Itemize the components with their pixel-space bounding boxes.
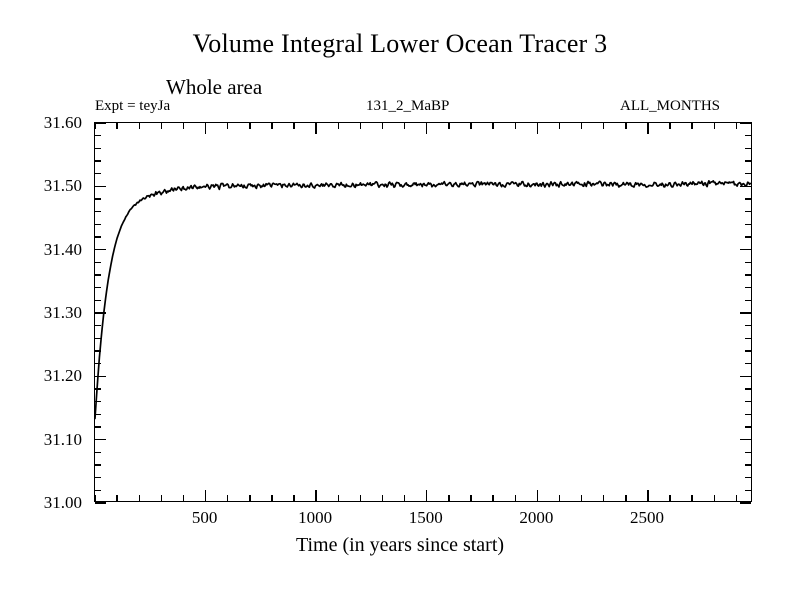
header-months: ALL_MONTHS	[620, 97, 720, 115]
y-axis-tick	[95, 249, 106, 250]
y-axis-tick	[95, 160, 101, 161]
y-axis-tick	[95, 224, 101, 225]
x-axis-tick	[139, 123, 140, 129]
y-axis-tick	[95, 312, 106, 313]
x-axis-tick	[315, 490, 316, 501]
x-axis-tick	[293, 123, 294, 129]
y-axis-tick	[745, 338, 751, 339]
y-axis-tick	[740, 186, 751, 187]
y-axis-tick	[745, 452, 751, 453]
x-axis-tick	[249, 123, 250, 129]
y-axis-tick	[95, 338, 101, 339]
y-axis-tick	[745, 135, 751, 136]
y-axis-tick-label: 31.20	[12, 367, 82, 384]
x-axis-tick	[139, 495, 140, 501]
y-axis-tick-label: 31.40	[12, 241, 82, 258]
x-axis-tick-label: 1500	[409, 508, 443, 527]
y-axis-tick-label: 31.00	[12, 494, 82, 511]
y-axis-tick	[95, 198, 101, 199]
y-axis-tick	[740, 122, 751, 123]
y-axis-tick	[745, 300, 751, 301]
y-axis-tick	[95, 363, 101, 364]
x-axis-tick-label: 1000	[298, 508, 332, 527]
x-axis-tick	[338, 495, 339, 501]
x-axis-tick	[669, 495, 670, 501]
x-axis-tick	[116, 495, 117, 501]
x-axis-tick	[448, 123, 449, 129]
chart-subtitle: Whole area	[166, 75, 262, 99]
y-axis-tick	[95, 464, 101, 465]
header-experiment: Expt = teyJa	[95, 97, 170, 115]
x-axis-tick	[94, 123, 95, 129]
y-axis-tick	[95, 262, 101, 263]
y-axis-tick	[95, 173, 101, 174]
y-axis-tick	[745, 148, 751, 149]
x-axis-tick	[603, 495, 604, 501]
page-title: Volume Integral Lower Ocean Tracer 3	[0, 29, 800, 59]
y-axis-tick	[745, 236, 751, 237]
y-axis-tick	[95, 122, 106, 123]
y-axis-tick	[745, 160, 751, 161]
y-axis-tick	[95, 414, 101, 415]
x-axis-tick	[404, 495, 405, 501]
y-axis-tick	[740, 502, 751, 503]
y-axis-tick	[745, 388, 751, 389]
x-axis-tick	[183, 495, 184, 501]
y-axis-tick	[745, 363, 751, 364]
y-axis-tick	[740, 249, 751, 250]
y-axis-tick	[745, 173, 751, 174]
y-axis-tick	[745, 426, 751, 427]
x-axis-tick	[714, 495, 715, 501]
y-axis-tick	[740, 376, 751, 377]
x-axis-tick	[647, 123, 648, 134]
x-axis-tick-label: 2500	[630, 508, 664, 527]
x-axis-tick	[647, 490, 648, 501]
x-axis-tick	[271, 123, 272, 129]
x-axis-tick	[669, 123, 670, 129]
x-axis-tick	[227, 123, 228, 129]
y-axis-tick	[745, 414, 751, 415]
x-axis-tick	[691, 495, 692, 501]
x-axis-tick	[492, 123, 493, 129]
x-axis-tick	[448, 495, 449, 501]
x-axis-tick	[315, 123, 316, 134]
x-axis-tick	[360, 123, 361, 129]
x-axis-tick	[183, 123, 184, 129]
x-axis-tick	[691, 123, 692, 129]
x-axis-tick	[116, 123, 117, 129]
x-axis-tick	[426, 123, 427, 134]
x-axis-tick	[625, 495, 626, 501]
x-axis-tick	[360, 495, 361, 501]
y-axis-tick	[745, 325, 751, 326]
y-axis-tick	[745, 490, 751, 491]
y-axis-tick	[95, 376, 106, 377]
y-axis-tick-label: 31.10	[12, 431, 82, 448]
x-axis-tick	[205, 123, 206, 134]
x-axis-tick	[492, 495, 493, 501]
x-axis-tick	[515, 495, 516, 501]
y-axis-tick	[95, 287, 101, 288]
y-axis-tick	[745, 211, 751, 212]
y-axis-tick	[95, 325, 101, 326]
y-axis-tick	[95, 490, 101, 491]
y-axis-tick	[745, 224, 751, 225]
x-axis-tick	[736, 495, 737, 501]
y-axis-tick	[95, 439, 106, 440]
x-axis-tick	[537, 490, 538, 501]
x-axis-tick	[714, 123, 715, 129]
y-axis-tick	[95, 135, 101, 136]
x-axis-tick	[161, 123, 162, 129]
y-axis-tick	[95, 186, 106, 187]
x-axis-tick	[382, 495, 383, 501]
y-axis-tick	[740, 439, 751, 440]
y-axis-tick	[745, 350, 751, 351]
y-axis-tick	[95, 502, 106, 503]
y-axis-tick	[95, 274, 101, 275]
x-axis-tick	[603, 123, 604, 129]
x-axis-tick	[581, 123, 582, 129]
x-axis-tick	[94, 495, 95, 501]
x-axis-tick	[227, 495, 228, 501]
y-axis-tick	[745, 287, 751, 288]
y-axis-tick-label: 31.50	[12, 177, 82, 194]
y-axis-tick	[95, 211, 101, 212]
x-axis-tick	[426, 490, 427, 501]
x-axis-tick	[293, 495, 294, 501]
y-axis-tick	[745, 477, 751, 478]
y-axis-tick	[95, 148, 101, 149]
y-axis-tick	[95, 388, 101, 389]
y-axis-tick	[745, 274, 751, 275]
y-axis-tick	[95, 236, 101, 237]
x-axis-tick	[537, 123, 538, 134]
x-axis-tick	[515, 123, 516, 129]
y-axis-tick	[745, 464, 751, 465]
header-case: 131_2_MaBP	[366, 97, 449, 115]
x-axis-tick	[161, 495, 162, 501]
x-axis-tick	[205, 490, 206, 501]
y-axis-tick	[95, 300, 101, 301]
plot-area	[94, 122, 752, 502]
y-axis-tick-label: 31.60	[12, 114, 82, 131]
x-axis-tick	[736, 123, 737, 129]
data-series-line	[95, 123, 751, 501]
y-axis-tick	[745, 401, 751, 402]
x-axis-tick	[338, 123, 339, 129]
y-axis-tick	[95, 477, 101, 478]
y-axis-tick	[745, 262, 751, 263]
x-axis-title: Time (in years since start)	[0, 533, 800, 557]
x-axis-tick	[404, 123, 405, 129]
y-axis-tick-label: 31.30	[12, 304, 82, 321]
x-axis-tick	[470, 123, 471, 129]
x-axis-tick	[470, 495, 471, 501]
y-axis-tick	[95, 426, 101, 427]
x-axis-tick	[249, 495, 250, 501]
y-axis-tick	[740, 312, 751, 313]
y-axis-tick	[95, 401, 101, 402]
y-axis-tick	[95, 452, 101, 453]
x-axis-tick	[271, 495, 272, 501]
x-axis-tick	[625, 123, 626, 129]
x-axis-tick-label: 2000	[519, 508, 553, 527]
chart-page: Volume Integral Lower Ocean Tracer 3 Who…	[0, 0, 800, 600]
x-axis-tick	[382, 123, 383, 129]
x-axis-tick	[559, 123, 560, 129]
x-axis-tick	[581, 495, 582, 501]
y-axis-tick	[745, 198, 751, 199]
y-axis-tick	[95, 350, 101, 351]
x-axis-tick	[559, 495, 560, 501]
plot-inner	[95, 123, 751, 501]
x-axis-tick-label: 500	[192, 508, 218, 527]
